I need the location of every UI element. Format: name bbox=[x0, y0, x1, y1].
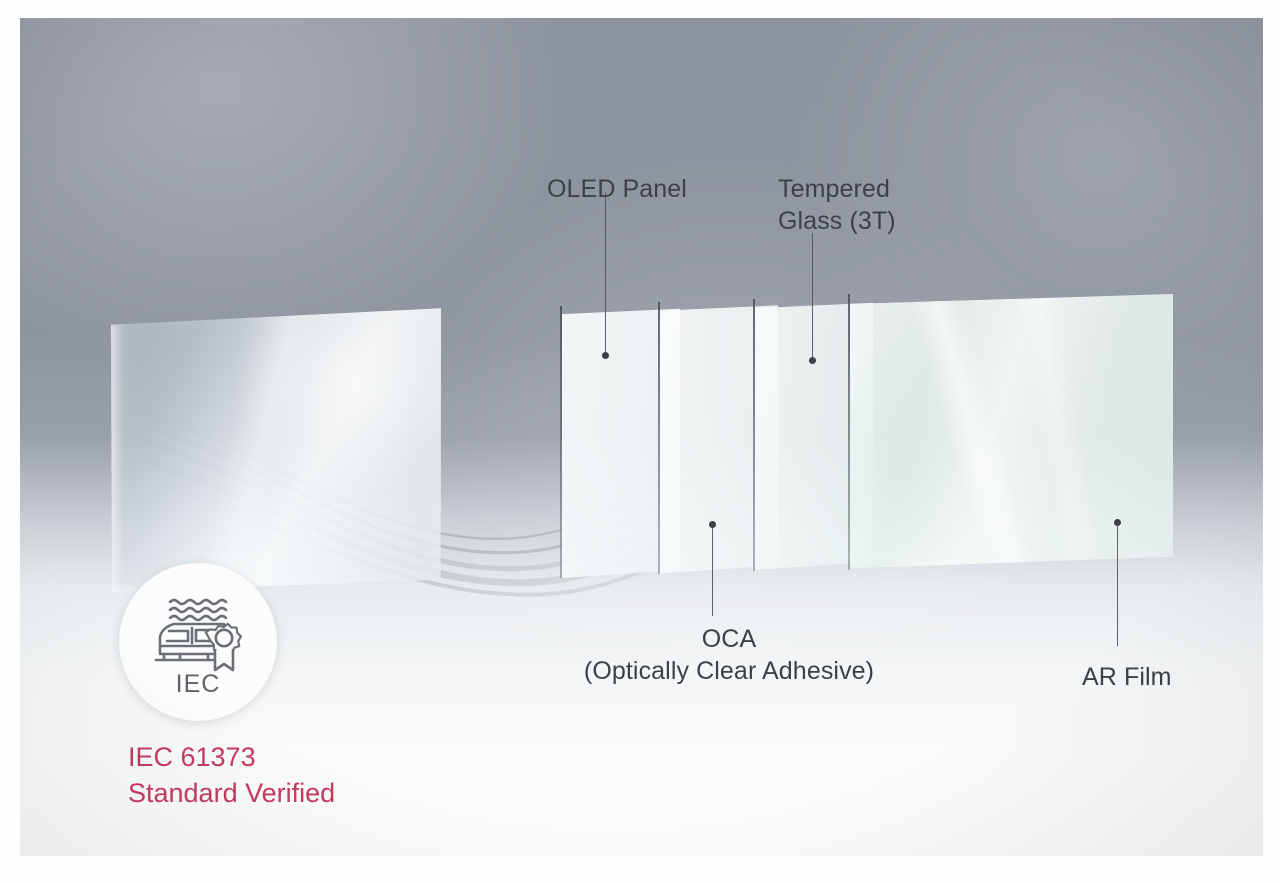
iec-certification-badge: IEC bbox=[119, 563, 277, 721]
leader-dot-ar-film bbox=[1114, 519, 1121, 526]
leader-dot-oca bbox=[709, 521, 716, 528]
callout-label-oca: OCA (Optically Clear Adhesive) bbox=[553, 623, 905, 687]
iec-standard-caption: IEC 61373 Standard Verified bbox=[128, 740, 335, 811]
leader-line-oled bbox=[605, 192, 606, 356]
leader-line-ar-film bbox=[1117, 524, 1118, 646]
callout-label-oled-panel: OLED Panel bbox=[547, 173, 687, 205]
leader-dot-oled bbox=[602, 352, 609, 359]
slide-page: OLED Panel Tempered Glass (3T) OCA (Opti… bbox=[0, 0, 1280, 883]
ar-film-left-edge bbox=[848, 294, 850, 570]
oca-left-edge bbox=[658, 302, 660, 574]
oled-panel-left-edge bbox=[560, 306, 562, 578]
tempered-glass-left-edge bbox=[753, 299, 755, 571]
leader-line-tempered-glass bbox=[812, 233, 813, 361]
product-layer-diagram: OLED Panel Tempered Glass (3T) OCA (Opti… bbox=[20, 18, 1263, 856]
callout-label-tempered-glass: Tempered Glass (3T) bbox=[778, 173, 896, 237]
iec-badge-mark: IEC bbox=[176, 670, 221, 698]
leader-dot-tempered-glass bbox=[809, 357, 816, 364]
display-panel bbox=[110, 303, 442, 593]
ar-film-layer bbox=[848, 294, 1173, 570]
callout-label-ar-film: AR Film bbox=[1082, 661, 1172, 693]
ar-film-sheen bbox=[848, 294, 1173, 570]
display-panel-edge bbox=[110, 303, 442, 593]
train-certification-icon: IEC bbox=[136, 580, 260, 704]
leader-line-oca bbox=[712, 526, 713, 616]
